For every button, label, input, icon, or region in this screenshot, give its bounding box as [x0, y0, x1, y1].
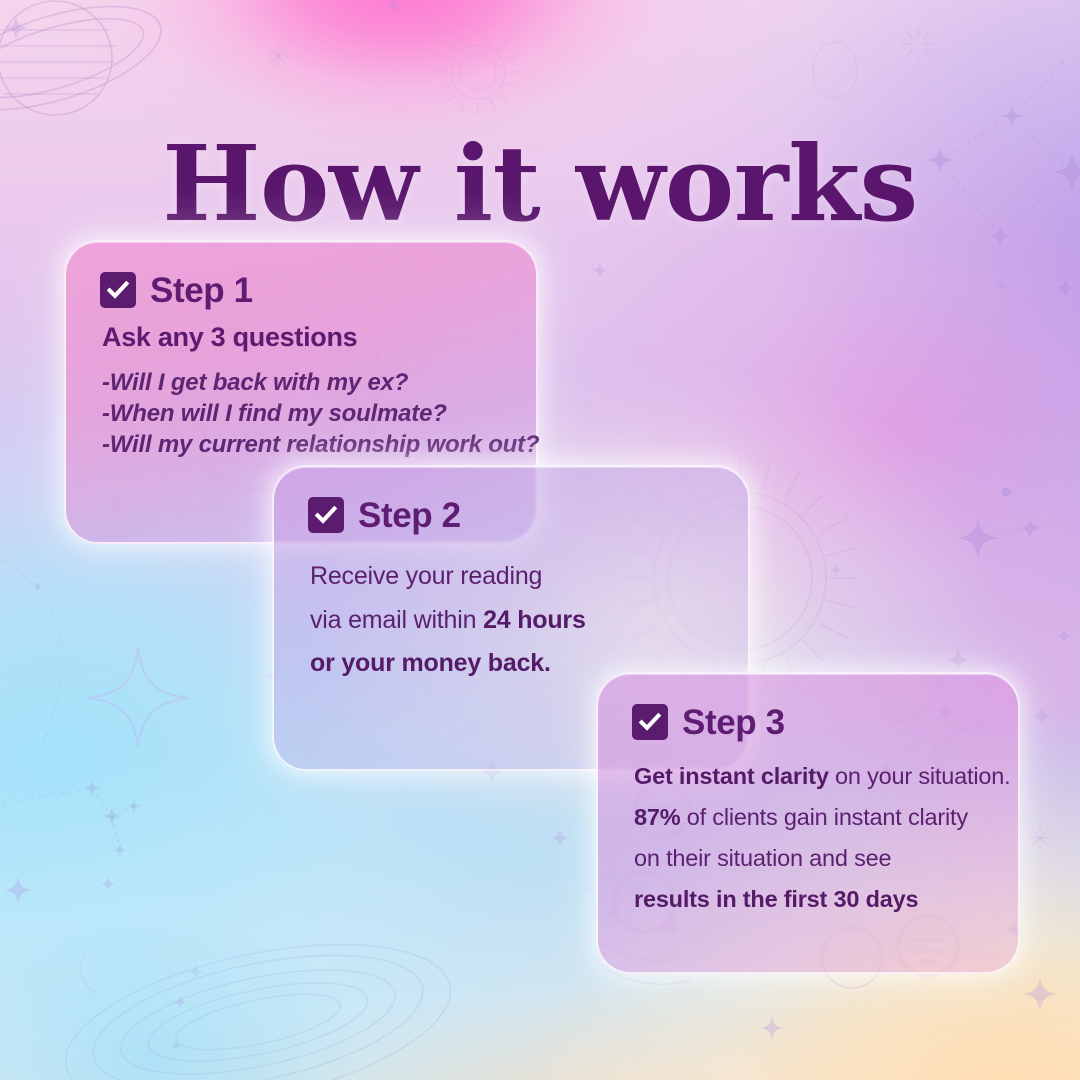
step-1-label: Step 1 [150, 273, 253, 308]
sun-burst-line-art [434, 28, 522, 116]
page-title: How it works [0, 132, 1080, 236]
step-2-body-line: Receive your reading [310, 555, 714, 599]
step-1-question-list: -Will I get back with my ex? -When will … [102, 367, 502, 461]
check-icon [308, 497, 344, 533]
step-card-3: Step 3 Get instant clarity on your situa… [596, 672, 1020, 974]
poster-canvas: How it works Step 1 Ask any 3 questions … [0, 0, 1080, 1080]
planet-line-art [0, 0, 172, 130]
step-3-body-line: results in the first 30 days [634, 879, 984, 920]
constellation-line-art-mid [959, 279, 1080, 557]
step-2-header: Step 2 [308, 497, 714, 533]
dotted-orbit-line-art [0, 560, 62, 808]
step-3-label: Step 3 [682, 705, 785, 740]
list-item: -Will my current relationship work out? [102, 429, 502, 460]
step-1-lead: Ask any 3 questions [102, 322, 502, 353]
sparkle-burst-line-art [813, 0, 1080, 98]
step-3-body-line: 87% of clients gain instant clarity [634, 797, 984, 838]
step-2-label: Step 2 [358, 498, 461, 533]
galaxy-spiral-line-art [51, 915, 464, 1080]
step-3-header: Step 3 [632, 704, 984, 740]
step-3-body-line: on their situation and see [634, 838, 984, 879]
step-3-body-line: Get instant clarity on your situation. [634, 756, 984, 797]
constellation-line-art-lower-left [0, 781, 141, 1080]
list-item: -When will I find my soulmate? [102, 398, 502, 429]
list-item: -Will I get back with my ex? [102, 367, 502, 398]
step-1-header: Step 1 [100, 272, 502, 308]
step-2-body-line: via email within 24 hours [310, 599, 714, 643]
check-icon [632, 704, 668, 740]
check-icon [100, 272, 136, 308]
galaxy-sparkle-group [169, 964, 203, 1052]
